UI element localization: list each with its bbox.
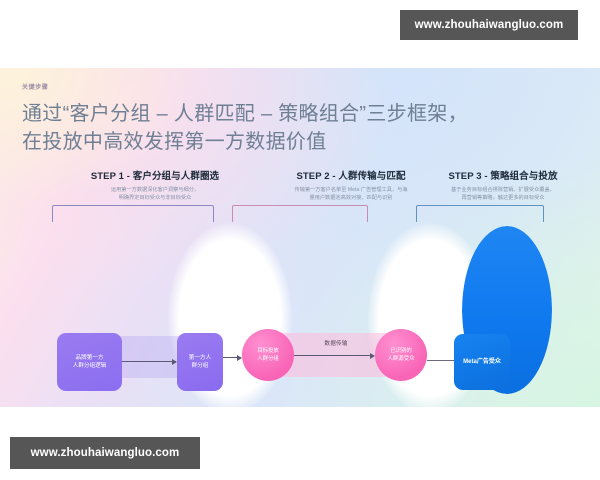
step-3-title: STEP 3 - 策略组合与投放: [414, 168, 592, 182]
step-3-description: 基于业务目标组合排除营销、扩展受众覆盖、 再营销等策略，触达更多的目标受众: [414, 186, 592, 203]
eyebrow-label: 关键步骤: [22, 82, 48, 91]
flow-node-matched-source-audience: 已识别的 人群源受众: [375, 329, 427, 381]
flow-node-brand-segmentation-logic: 品牌第一方 人群分组逻辑: [57, 333, 122, 391]
step-1: STEP 1 - 客户分组与人群圈选 运用第一方数据深化客户洞察与细分， 明确界…: [48, 168, 262, 203]
slide-canvas: 关键步骤 通过“客户分组 – 人群匹配 – 策略组合”三步框架， 在投放中高效发…: [0, 68, 600, 407]
page-title: 通过“客户分组 – 人群匹配 – 策略组合”三步框架， 在投放中高效发挥第一方数…: [22, 100, 562, 157]
watermark-top: www.zhouhaiwangluo.com: [400, 10, 578, 40]
arrow-node3-to-node4: [294, 355, 374, 356]
step-1-description: 运用第一方数据深化客户洞察与细分， 明确界定目标受众与非目标受众: [48, 186, 262, 203]
arrow-node1-to-node2: [122, 361, 176, 362]
step-3-bracket: [416, 205, 544, 222]
data-transfer-label: 数据传输: [300, 339, 372, 347]
step-1-title: STEP 1 - 客户分组与人群圈选: [48, 168, 262, 182]
step-1-bracket: [52, 205, 214, 222]
screenshot-root: www.zhouhaiwangluo.com 关键步骤 通过“客户分组 – 人群…: [0, 0, 600, 480]
flow-node-target-audience-group: 目标投放 人群分组: [242, 329, 294, 381]
arrow-node2-to-node3: [223, 357, 241, 358]
watermark-bottom: www.zhouhaiwangluo.com: [10, 437, 200, 469]
flow-node-meta-ad-audience: Meta广告受众: [454, 334, 510, 390]
step-3: STEP 3 - 策略组合与投放 基于业务目标组合排除营销、扩展受众覆盖、 再营…: [414, 168, 592, 203]
step-2-bracket: [232, 205, 368, 222]
flow-node-first-party-groups: 第一方人 群分组: [177, 333, 223, 391]
line-node4-to-node5: [427, 360, 455, 361]
